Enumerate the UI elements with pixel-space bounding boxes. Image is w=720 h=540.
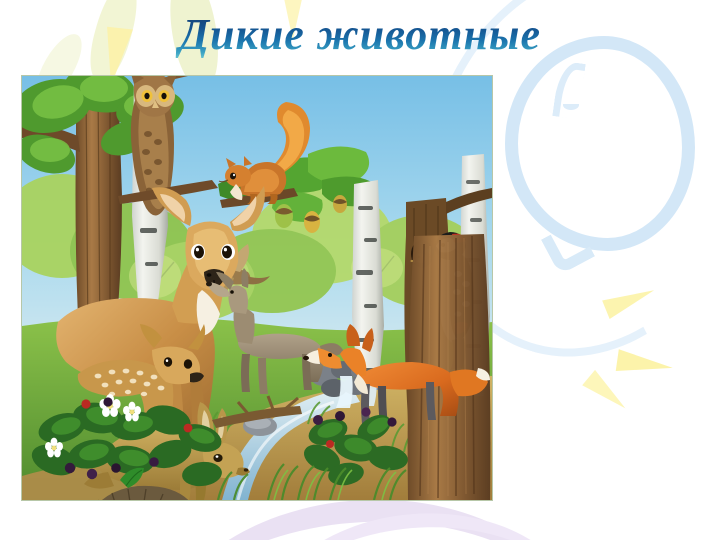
yellow-ray-2 <box>616 349 675 379</box>
balloon-outline-shape <box>505 36 695 251</box>
lavender-swoosh-2 <box>245 500 584 540</box>
balloon-knot-shape <box>541 221 595 275</box>
balloon-highlight-icon <box>552 60 586 119</box>
yellow-ray-1 <box>602 281 658 319</box>
yellow-ray-3 <box>582 370 632 416</box>
slide-title: Дикие животные <box>0 12 720 58</box>
slide-canvas: Дикие животные <box>0 0 720 540</box>
balloon-highlight-dot-icon <box>563 100 579 110</box>
forest-scene-svg <box>22 76 492 500</box>
forest-illustration[interactable] <box>22 76 492 500</box>
